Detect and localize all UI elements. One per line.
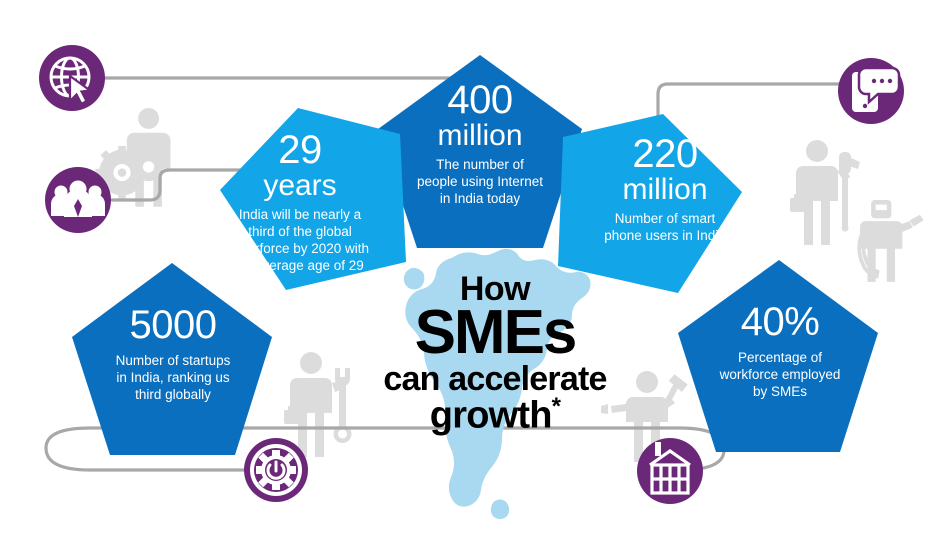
phone-chat-icon[interactable]: [838, 58, 904, 124]
factory-building-icon[interactable]: [637, 438, 703, 504]
gear-power-icon[interactable]: [244, 438, 308, 502]
infographic-canvas: 400 million The number ofpeople using In…: [0, 0, 950, 535]
globe-cursor-icon[interactable]: [39, 45, 105, 111]
purple-icons-layer: [0, 0, 950, 535]
people-group-icon[interactable]: [45, 167, 111, 233]
